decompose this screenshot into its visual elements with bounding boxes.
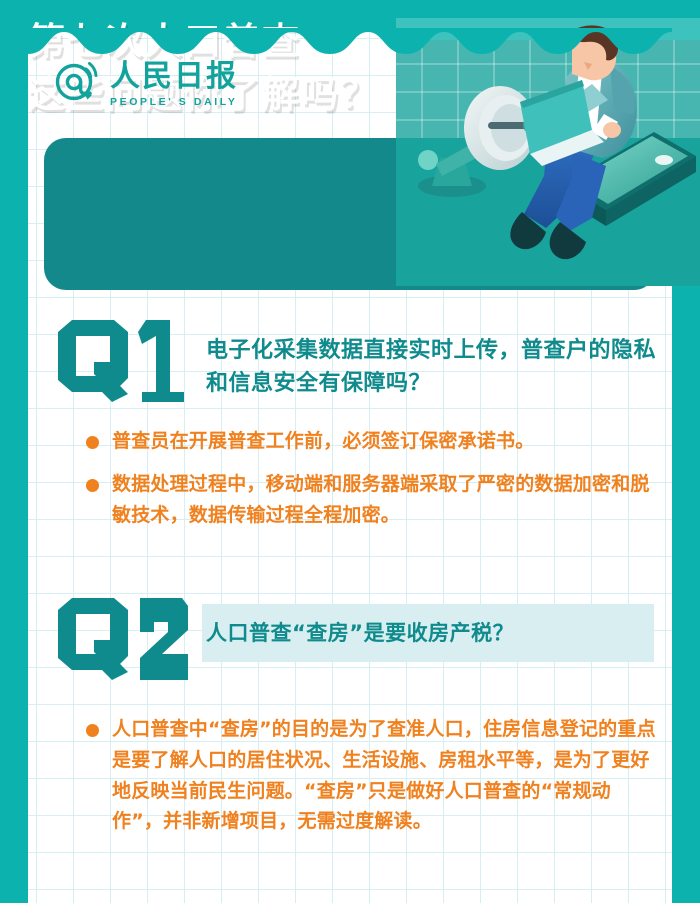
question-1-text: 电子化采集数据直接实时上传，普查户的隐私和信息安全有保障吗？ [206,334,660,400]
masthead-name-en: PEOPLE' S DAILY [110,97,238,108]
question-1-answers: 普查员在开展普查工作前，必须签订保密承诺书。 数据处理过程中，移动端和服务器端采… [86,426,660,530]
q2-badge-icon [50,596,192,682]
question-2-answers: 人口普查中“查房”的目的是为了查准人口，住房信息登记的重点是要了解人口的居住状况… [86,714,660,837]
masthead: 人民日报 PEOPLE' S DAILY [52,55,238,107]
question-2-header: 人口普查“查房”是要收房产税？ [50,596,660,682]
question-1-text-wrap: 电子化采集数据直接实时上传，普查户的隐私和信息安全有保障吗？ [206,318,660,400]
q1-badge-icon [50,318,192,404]
answer-bullet: 普查员在开展普查工作前，必须签订保密承诺书。 [86,426,660,457]
right-teal-strip [672,0,700,903]
question-1-header: 电子化采集数据直接实时上传，普查户的隐私和信息安全有保障吗？ [50,318,660,404]
at-signal-logo-icon [52,55,104,107]
masthead-name-cn: 人民日报 [110,62,238,92]
masthead-wordmark: 人民日报 PEOPLE' S DAILY [110,62,238,108]
answer-bullet: 数据处理过程中，移动端和服务器端采取了严密的数据加密和脱敏技术，数据传输过程全程… [86,469,660,531]
question-block-1: 电子化采集数据直接实时上传，普查户的隐私和信息安全有保障吗？ 普查员在开展普查工… [50,318,660,542]
question-block-2: 人口普查“查房”是要收房产税？ 人口普查中“查房”的目的是为了查准人口，住房信息… [50,596,660,849]
left-teal-strip [0,0,28,903]
infographic-poster: 人民日报 PEOPLE' S DAILY 第七次人口普查 这些问题你了解吗？ [0,0,700,903]
hero-banner [44,138,656,290]
answer-bullet: 人口普查中“查房”的目的是为了查准人口，住房信息登记的重点是要了解人口的居住状况… [86,714,660,837]
question-2-text-wrap: 人口普查“查房”是要收房产税？ [206,596,660,650]
question-2-text: 人口普查“查房”是要收房产税？ [206,618,660,650]
